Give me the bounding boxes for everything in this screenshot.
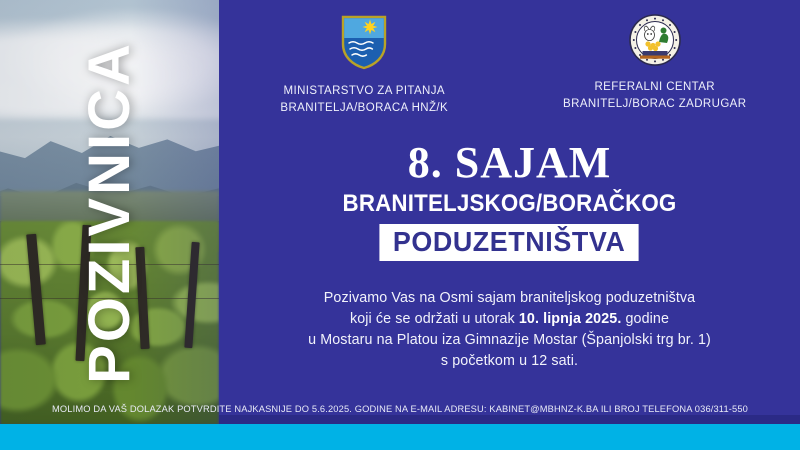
- body-line-4: s početkom u 12 sati.: [231, 351, 788, 372]
- logo-block-ministry: MINISTARSTVO ZA PITANJA BRANITELJA/BORAC…: [219, 8, 510, 138]
- body-line-2-prefix: koji će se održati u utorak: [350, 311, 519, 327]
- event-date: 10. lipnja 2025.: [519, 311, 622, 327]
- invitation-poster: POZIVNICA: [0, 0, 800, 450]
- body-line-2: koji će se održati u utorak 10. lipnja 2…: [231, 309, 788, 330]
- logo-caption-referral-centre: REFERALNI CENTAR BRANITELJ/BORAC ZADRUGA…: [563, 79, 746, 112]
- body-line-1: Pozivamo Vas na Osmi sajam braniteljskog…: [231, 288, 788, 309]
- coat-of-arms-shield-icon: [340, 14, 388, 75]
- invitation-body: Pozivamo Vas na Osmi sajam braniteljskog…: [219, 288, 800, 372]
- headline-main: 8. SAJAM: [219, 140, 800, 186]
- logo-block-referral-centre: REFERALNI CENTAR BRANITELJ/BORAC ZADRUGA…: [510, 8, 800, 138]
- headline-block: 8. SAJAM BRANITELJSKOG/BORAČKOG PODUZETN…: [219, 140, 800, 261]
- circular-seal-icon: [629, 14, 681, 71]
- logos-row: MINISTARSTVO ZA PITANJA BRANITELJA/BORAC…: [219, 8, 800, 138]
- logo-caption-ministry: MINISTARSTVO ZA PITANJA BRANITELJA/BORAC…: [280, 83, 448, 116]
- footer-note-text: MOLIMO DA VAŠ DOLAZAK POTVRDITE NAJKASNI…: [52, 404, 748, 414]
- body-line-2-suffix: godine: [621, 311, 669, 327]
- headline-subtitle: BRANITELJSKOG/BORAČKOG: [239, 190, 779, 218]
- vineyard-photo: [0, 0, 219, 425]
- body-line-3: u Mostaru na Platou iza Gimnazije Mostar…: [231, 330, 788, 351]
- headline-boxed-word: PODUZETNIŠTVA: [380, 224, 639, 261]
- bottom-cyan-bar: [0, 424, 800, 450]
- photo-overlay-shade: [0, 0, 219, 425]
- footer-note: MOLIMO DA VAŠ DOLAZAK POTVRDITE NAJKASNI…: [0, 398, 800, 420]
